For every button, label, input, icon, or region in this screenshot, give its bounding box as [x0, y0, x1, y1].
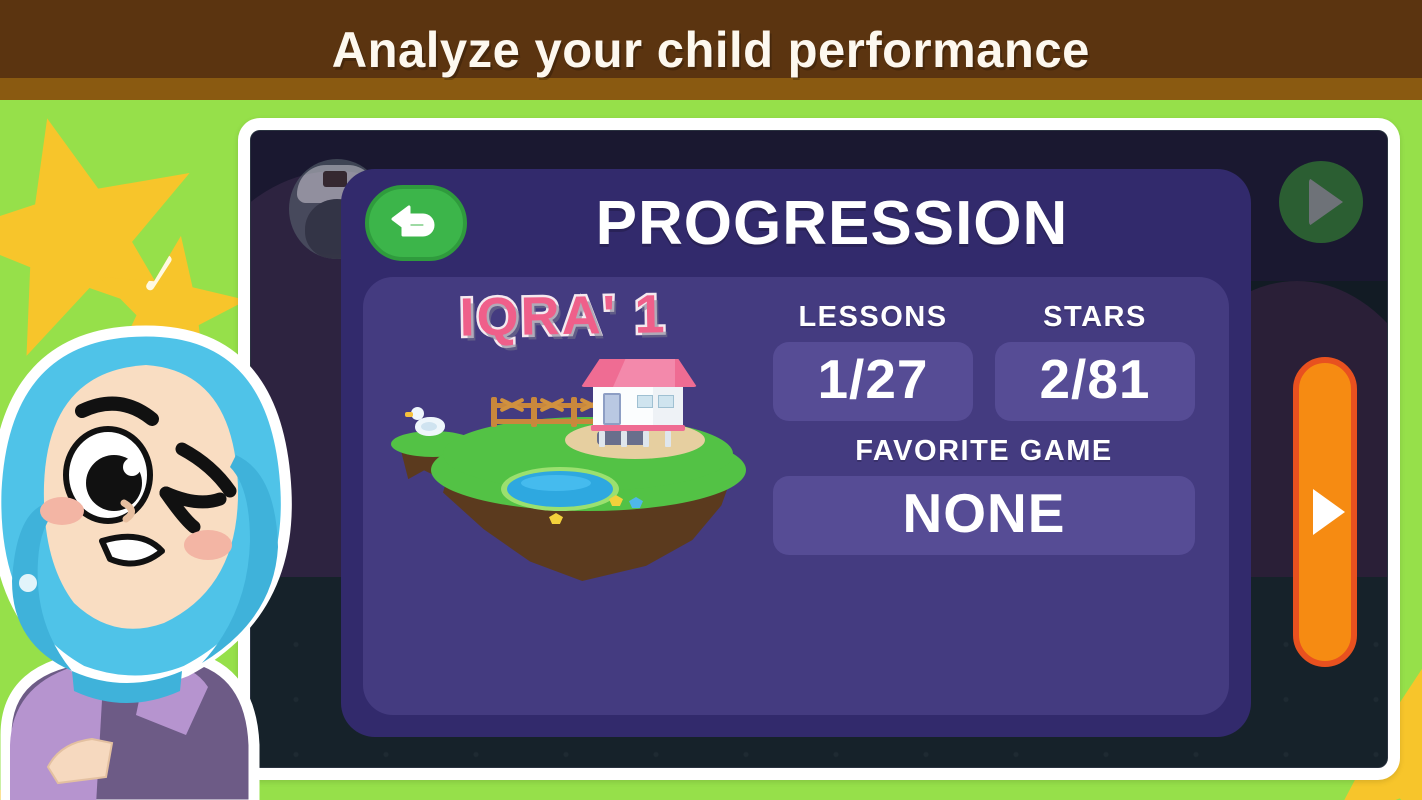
stat-label: STARS	[1043, 301, 1147, 334]
stat-value: NONE	[903, 486, 1066, 541]
mascot-smile	[102, 537, 162, 564]
undo-arrow-icon	[389, 201, 443, 245]
fence-post	[571, 397, 577, 427]
star-glint	[3, 159, 21, 210]
play-triangle-icon	[1313, 489, 1345, 535]
level-preview: IQRA' 1	[363, 277, 763, 715]
girl-with-blue-hijab-avatar	[0, 315, 306, 800]
floating-island-illustration	[381, 343, 761, 573]
dialog-body: IQRA' 1	[363, 277, 1229, 715]
house-window	[637, 395, 653, 408]
stat-value-box: 2/81	[995, 342, 1195, 421]
mascot-cheek	[40, 497, 84, 525]
house-stilt	[599, 431, 605, 447]
pond-highlight	[521, 475, 591, 491]
stat-value-box: NONE	[773, 476, 1195, 555]
house-window	[658, 395, 674, 408]
mascot-hijab-highlight	[19, 574, 37, 592]
page-title: PROGRESSION	[447, 188, 1217, 259]
house-stilt	[643, 431, 649, 447]
fence-post	[491, 397, 497, 427]
stat-stars: STARS 2/81	[995, 301, 1195, 421]
stat-lessons: LESSONS 1/27	[773, 301, 973, 421]
dialog-header: PROGRESSION	[341, 169, 1251, 277]
house-door	[603, 393, 621, 425]
device-frame: PROGRESSION IQRA' 1	[238, 118, 1400, 780]
progression-dialog: PROGRESSION IQRA' 1	[341, 169, 1251, 737]
play-button-icon	[1279, 161, 1363, 243]
mascot-cheek	[184, 530, 232, 560]
level-name: IQRA' 1	[459, 283, 667, 349]
stat-value: 1/27	[817, 352, 928, 407]
fence-post	[531, 397, 537, 427]
house-stilt	[665, 431, 671, 447]
screenshot-root: PROGRESSION IQRA' 1	[0, 0, 1422, 800]
game-screen: PROGRESSION IQRA' 1	[250, 130, 1388, 768]
duck-beak	[405, 412, 413, 417]
stat-value: 2/81	[1039, 352, 1150, 407]
stats-row: LESSONS 1/27 STARS 2/81	[773, 301, 1195, 421]
next-button[interactable]	[1293, 357, 1357, 667]
stat-label: FAVORITE GAME	[855, 435, 1112, 468]
duck-wing	[421, 422, 437, 431]
promo-banner: Analyze your child performance	[0, 0, 1422, 100]
house-skirt	[591, 425, 685, 431]
stat-label: LESSONS	[798, 301, 947, 334]
stats-panel: LESSONS 1/27 STARS 2/81	[763, 277, 1229, 715]
promo-headline: Analyze your child performance	[332, 21, 1090, 79]
stat-favorite-game: FAVORITE GAME NONE	[773, 435, 1195, 715]
house-stilt	[621, 431, 627, 447]
stat-value-box: 1/27	[773, 342, 973, 421]
play-triangle-icon	[1309, 178, 1343, 226]
